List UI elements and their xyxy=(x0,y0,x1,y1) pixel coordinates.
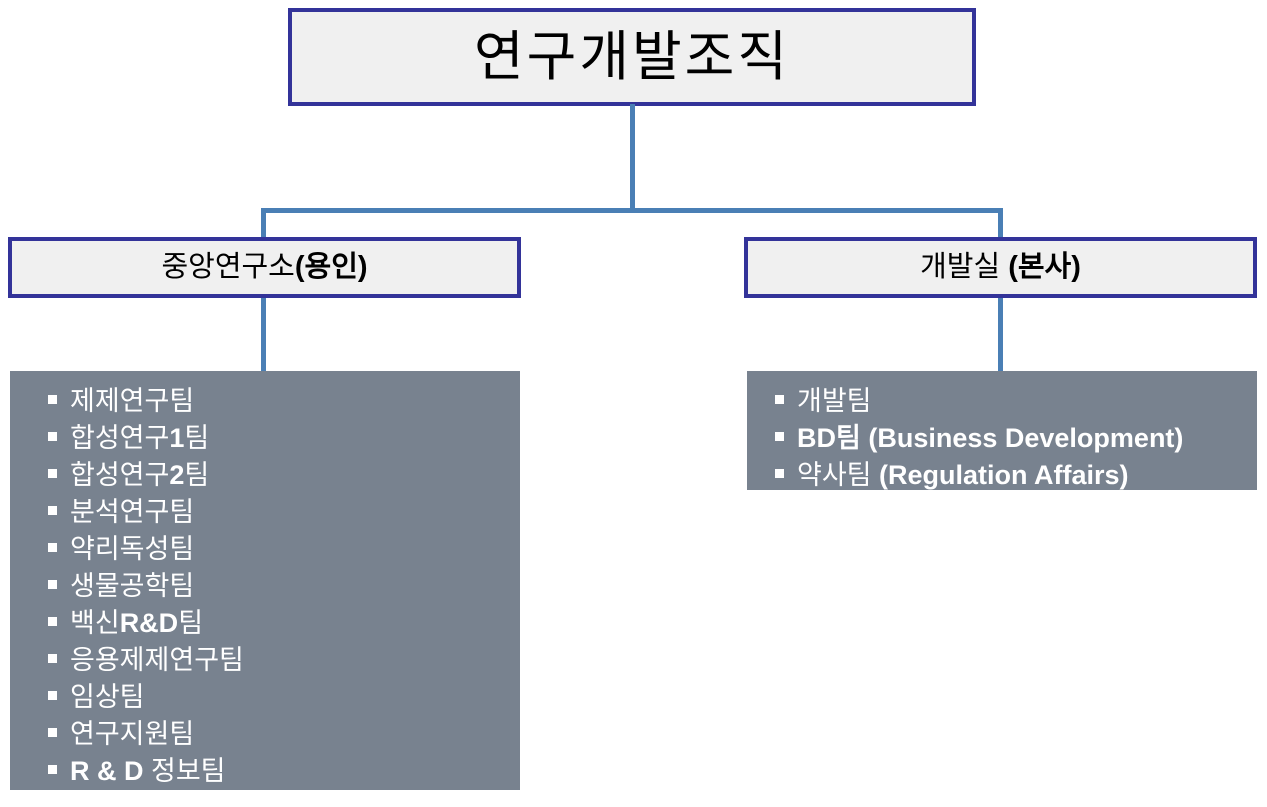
org-chart-canvas: 연구개발조직 중앙연구소(용인) 개발실 (본사) 제제연구팀합성연구1팀합성연… xyxy=(0,0,1267,807)
team-list-item[interactable]: 생물공학팀 xyxy=(10,568,520,605)
square-bullet-icon xyxy=(48,395,57,404)
team-list-item[interactable]: 연구지원팀 xyxy=(10,716,520,753)
team-label-normal: 개발팀 xyxy=(797,386,872,416)
square-bullet-icon xyxy=(775,432,784,441)
team-list-left: 제제연구팀합성연구1팀합성연구2팀분석연구팀약리독성팀생물공학팀백신R&D팀응용… xyxy=(10,383,520,790)
team-label-normal: 제제연구팀 xyxy=(70,386,194,416)
team-list-right: 개발팀BD팀 (Business Development)약사팀 (Regula… xyxy=(747,383,1257,494)
branch-node-right-label: 개발실 (본사) xyxy=(920,252,1081,282)
square-bullet-icon xyxy=(48,580,57,589)
team-list-item[interactable]: R & D 정보팀 xyxy=(10,753,520,790)
team-list-item-label: 약사팀 (Regulation Affairs) xyxy=(797,457,1129,494)
team-list-item-label: 합성연구1팀 xyxy=(70,420,209,457)
branch-node-right-label-bold: (본사) xyxy=(1008,251,1081,283)
team-list-item-label: 합성연구2팀 xyxy=(70,457,209,494)
team-label-emphasis: R & D xyxy=(70,756,144,786)
team-list-item-label: 백신R&D팀 xyxy=(70,605,203,642)
team-list-item[interactable]: 합성연구1팀 xyxy=(10,420,520,457)
root-node-label: 연구개발조직 xyxy=(474,29,790,86)
team-label-normal: 합성연구 xyxy=(70,460,169,490)
team-label-emphasis: BD팀 (Business Development) xyxy=(797,423,1183,453)
team-list-item-label: BD팀 (Business Development) xyxy=(797,420,1183,457)
team-panel-central-research-institute: 제제연구팀합성연구1팀합성연구2팀분석연구팀약리독성팀생물공학팀백신R&D팀응용… xyxy=(10,371,520,790)
team-label-normal: 연구지원팀 xyxy=(70,719,194,749)
square-bullet-icon xyxy=(48,506,57,515)
team-label-tail: 팀 xyxy=(184,460,209,490)
team-panel-development-office: 개발팀BD팀 (Business Development)약사팀 (Regula… xyxy=(747,371,1257,490)
team-list-item[interactable]: 응용제제연구팀 xyxy=(10,642,520,679)
team-list-item[interactable]: 약사팀 (Regulation Affairs) xyxy=(747,457,1257,494)
square-bullet-icon xyxy=(775,395,784,404)
team-label-normal: 임상팀 xyxy=(70,682,145,712)
team-list-item[interactable]: 합성연구2팀 xyxy=(10,457,520,494)
square-bullet-icon xyxy=(48,691,57,700)
team-label-normal: 약사팀 xyxy=(797,460,879,490)
connector-root-stem xyxy=(630,104,635,212)
square-bullet-icon xyxy=(48,654,57,663)
team-label-normal: 합성연구 xyxy=(70,423,169,453)
team-label-normal: 생물공학팀 xyxy=(70,571,194,601)
branch-node-left-label-normal: 중앙연구소 xyxy=(161,251,294,283)
team-label-tail: 팀 xyxy=(178,608,203,638)
team-list-item-label: 연구지원팀 xyxy=(70,716,194,753)
connector-down-to-left-branch xyxy=(261,208,266,239)
square-bullet-icon xyxy=(48,469,57,478)
root-node-r-and-d-organization[interactable]: 연구개발조직 xyxy=(288,8,976,106)
square-bullet-icon xyxy=(48,617,57,626)
connector-right-branch-to-team-list xyxy=(998,296,1003,374)
team-list-item-label: 약리독성팀 xyxy=(70,531,194,568)
branch-node-development-office[interactable]: 개발실 (본사) xyxy=(744,237,1257,298)
branch-node-left-label-bold: (용인) xyxy=(295,251,368,283)
square-bullet-icon xyxy=(48,728,57,737)
team-list-item-label: 임상팀 xyxy=(70,679,145,716)
square-bullet-icon xyxy=(48,765,57,774)
team-label-emphasis: R&D xyxy=(120,608,179,638)
team-label-emphasis: 2 xyxy=(169,460,184,490)
team-list-item-label: 분석연구팀 xyxy=(70,494,194,531)
team-list-item[interactable]: BD팀 (Business Development) xyxy=(747,420,1257,457)
team-list-item-label: 제제연구팀 xyxy=(70,383,194,420)
team-label-normal: 백신 xyxy=(70,608,120,638)
team-label-normal: 약리독성팀 xyxy=(70,534,194,564)
square-bullet-icon xyxy=(48,432,57,441)
team-list-item-label: R & D 정보팀 xyxy=(70,753,226,790)
team-list-item-label: 응용제제연구팀 xyxy=(70,642,244,679)
connector-down-to-right-branch xyxy=(998,208,1003,239)
square-bullet-icon xyxy=(775,469,784,478)
team-list-item-label: 생물공학팀 xyxy=(70,568,194,605)
team-list-item[interactable]: 분석연구팀 xyxy=(10,494,520,531)
branch-node-left-label: 중앙연구소(용인) xyxy=(161,252,367,282)
connector-crossbar xyxy=(261,208,1003,213)
team-list-item[interactable]: 임상팀 xyxy=(10,679,520,716)
team-list-item[interactable]: 개발팀 xyxy=(747,383,1257,420)
team-list-item-label: 개발팀 xyxy=(797,383,872,420)
connector-left-branch-to-team-list xyxy=(261,296,266,374)
team-label-emphasis: 1 xyxy=(169,423,184,453)
team-list-item[interactable]: 약리독성팀 xyxy=(10,531,520,568)
team-list-item[interactable]: 백신R&D팀 xyxy=(10,605,520,642)
team-label-normal: 응용제제연구팀 xyxy=(70,645,244,675)
team-label-emphasis: (Regulation Affairs) xyxy=(879,460,1129,490)
team-label-tail: 팀 xyxy=(184,423,209,453)
square-bullet-icon xyxy=(48,543,57,552)
team-label-normal: 분석연구팀 xyxy=(70,497,194,527)
team-list-item[interactable]: 제제연구팀 xyxy=(10,383,520,420)
team-label-tail: 정보팀 xyxy=(144,756,226,786)
branch-node-right-label-normal: 개발실 xyxy=(920,251,1008,283)
branch-node-central-research-institute[interactable]: 중앙연구소(용인) xyxy=(8,237,521,298)
